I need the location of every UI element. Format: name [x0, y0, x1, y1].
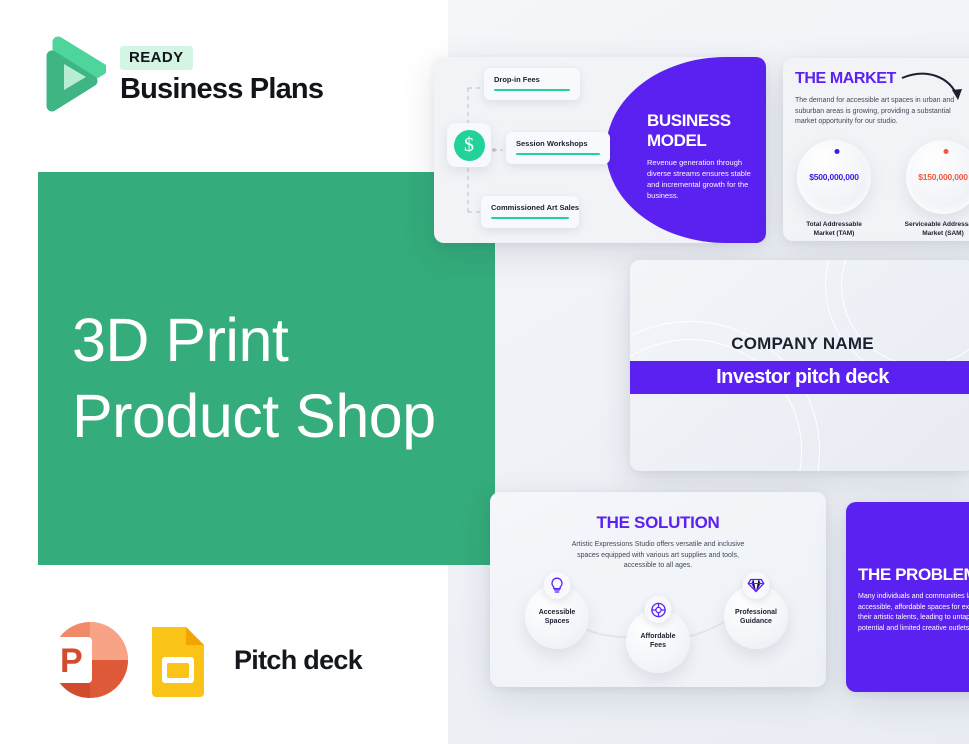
dollar-icon: $: [454, 130, 485, 161]
ready-badge: READY: [120, 46, 193, 70]
company-name-heading: COMPANY NAME: [630, 334, 969, 354]
investor-pitch-deck-band: Investor pitch deck: [630, 361, 969, 394]
market-metric-dot: [835, 149, 840, 154]
powerpoint-icon: P: [40, 620, 128, 700]
market-metric-dot: [944, 149, 949, 154]
brand-name: Business Plans: [120, 72, 323, 106]
market-metric-caption: Total Addressable Market (TAM): [791, 220, 877, 238]
business-model-chip-1[interactable]: Drop-in Fees: [484, 68, 580, 100]
market-metric-caption: Serviceable Addressable Market (SAM): [900, 220, 969, 238]
google-slides-icon: [148, 623, 208, 697]
chip-underline: [491, 217, 569, 219]
chip-label: Session Workshops: [516, 139, 600, 148]
market-metric-value: $150,000,000: [918, 172, 968, 182]
the-market-description: The demand for accessible art spaces in …: [795, 96, 960, 128]
svg-text:P: P: [60, 642, 83, 680]
chip-underline: [516, 153, 600, 155]
solution-node-1[interactable]: Accessible Spaces: [525, 585, 589, 649]
business-model-money-badge: $: [447, 123, 491, 167]
business-model-description: Revenue generation through diverse strea…: [647, 157, 759, 201]
the-solution-title: THE SOLUTION: [490, 513, 826, 533]
chip-underline: [494, 89, 570, 91]
solution-node-2[interactable]: Affordable Fees: [626, 609, 690, 673]
business-model-title: BUSINESS MODEL: [647, 111, 757, 151]
lightbulb-icon: [544, 572, 571, 599]
market-metric-2: $150,000,000 Serviceable Addressable Mar…: [906, 140, 969, 238]
footer-format-group: P Pitch deck: [40, 620, 362, 700]
promo-banner: 3D Print Product Shop READY Business Pla…: [0, 0, 969, 744]
market-metric-circle: $500,000,000: [797, 140, 871, 214]
chip-label: Commissioned Art Sales: [491, 203, 569, 212]
brand-text-group: READY Business Plans: [120, 42, 323, 106]
diamond-icon: [743, 572, 770, 599]
solution-node-3[interactable]: Professional Guidance: [724, 585, 788, 649]
chip-label: Drop-in Fees: [494, 75, 570, 84]
hero-title: 3D Print Product Shop: [72, 302, 492, 454]
business-model-chip-3[interactable]: Commissioned Art Sales: [481, 196, 579, 228]
target-icon: [645, 596, 672, 623]
the-problem-title: THE PROBLEM: [858, 565, 969, 585]
the-solution-description: Artistic Expressions Studio offers versa…: [560, 540, 756, 572]
investor-pitch-deck-label: Investor pitch deck: [716, 366, 889, 389]
the-market-title: THE MARKET: [795, 70, 896, 88]
play-triangle-logo-icon: [40, 36, 106, 112]
market-metric-value: $500,000,000: [809, 172, 859, 182]
market-metric-circle: $150,000,000: [906, 140, 969, 214]
brand-logo-group[interactable]: READY Business Plans: [40, 36, 323, 112]
the-problem-description: Many individuals and communities lack ac…: [858, 592, 969, 634]
market-metric-1: $500,000,000 Total Addressable Market (T…: [797, 140, 877, 238]
footer-label: Pitch deck: [234, 645, 362, 676]
business-model-chip-2[interactable]: Session Workshops: [506, 132, 610, 164]
